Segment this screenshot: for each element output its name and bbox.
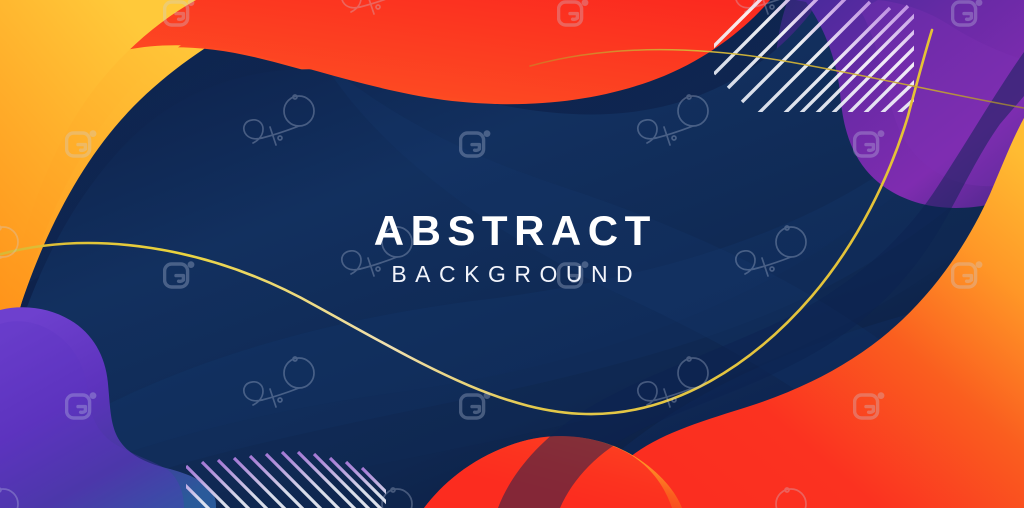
gold-wave-lines-layer <box>0 0 1024 508</box>
abstract-background-canvas: ABSTRACT BACKGROUND <box>0 0 1024 508</box>
